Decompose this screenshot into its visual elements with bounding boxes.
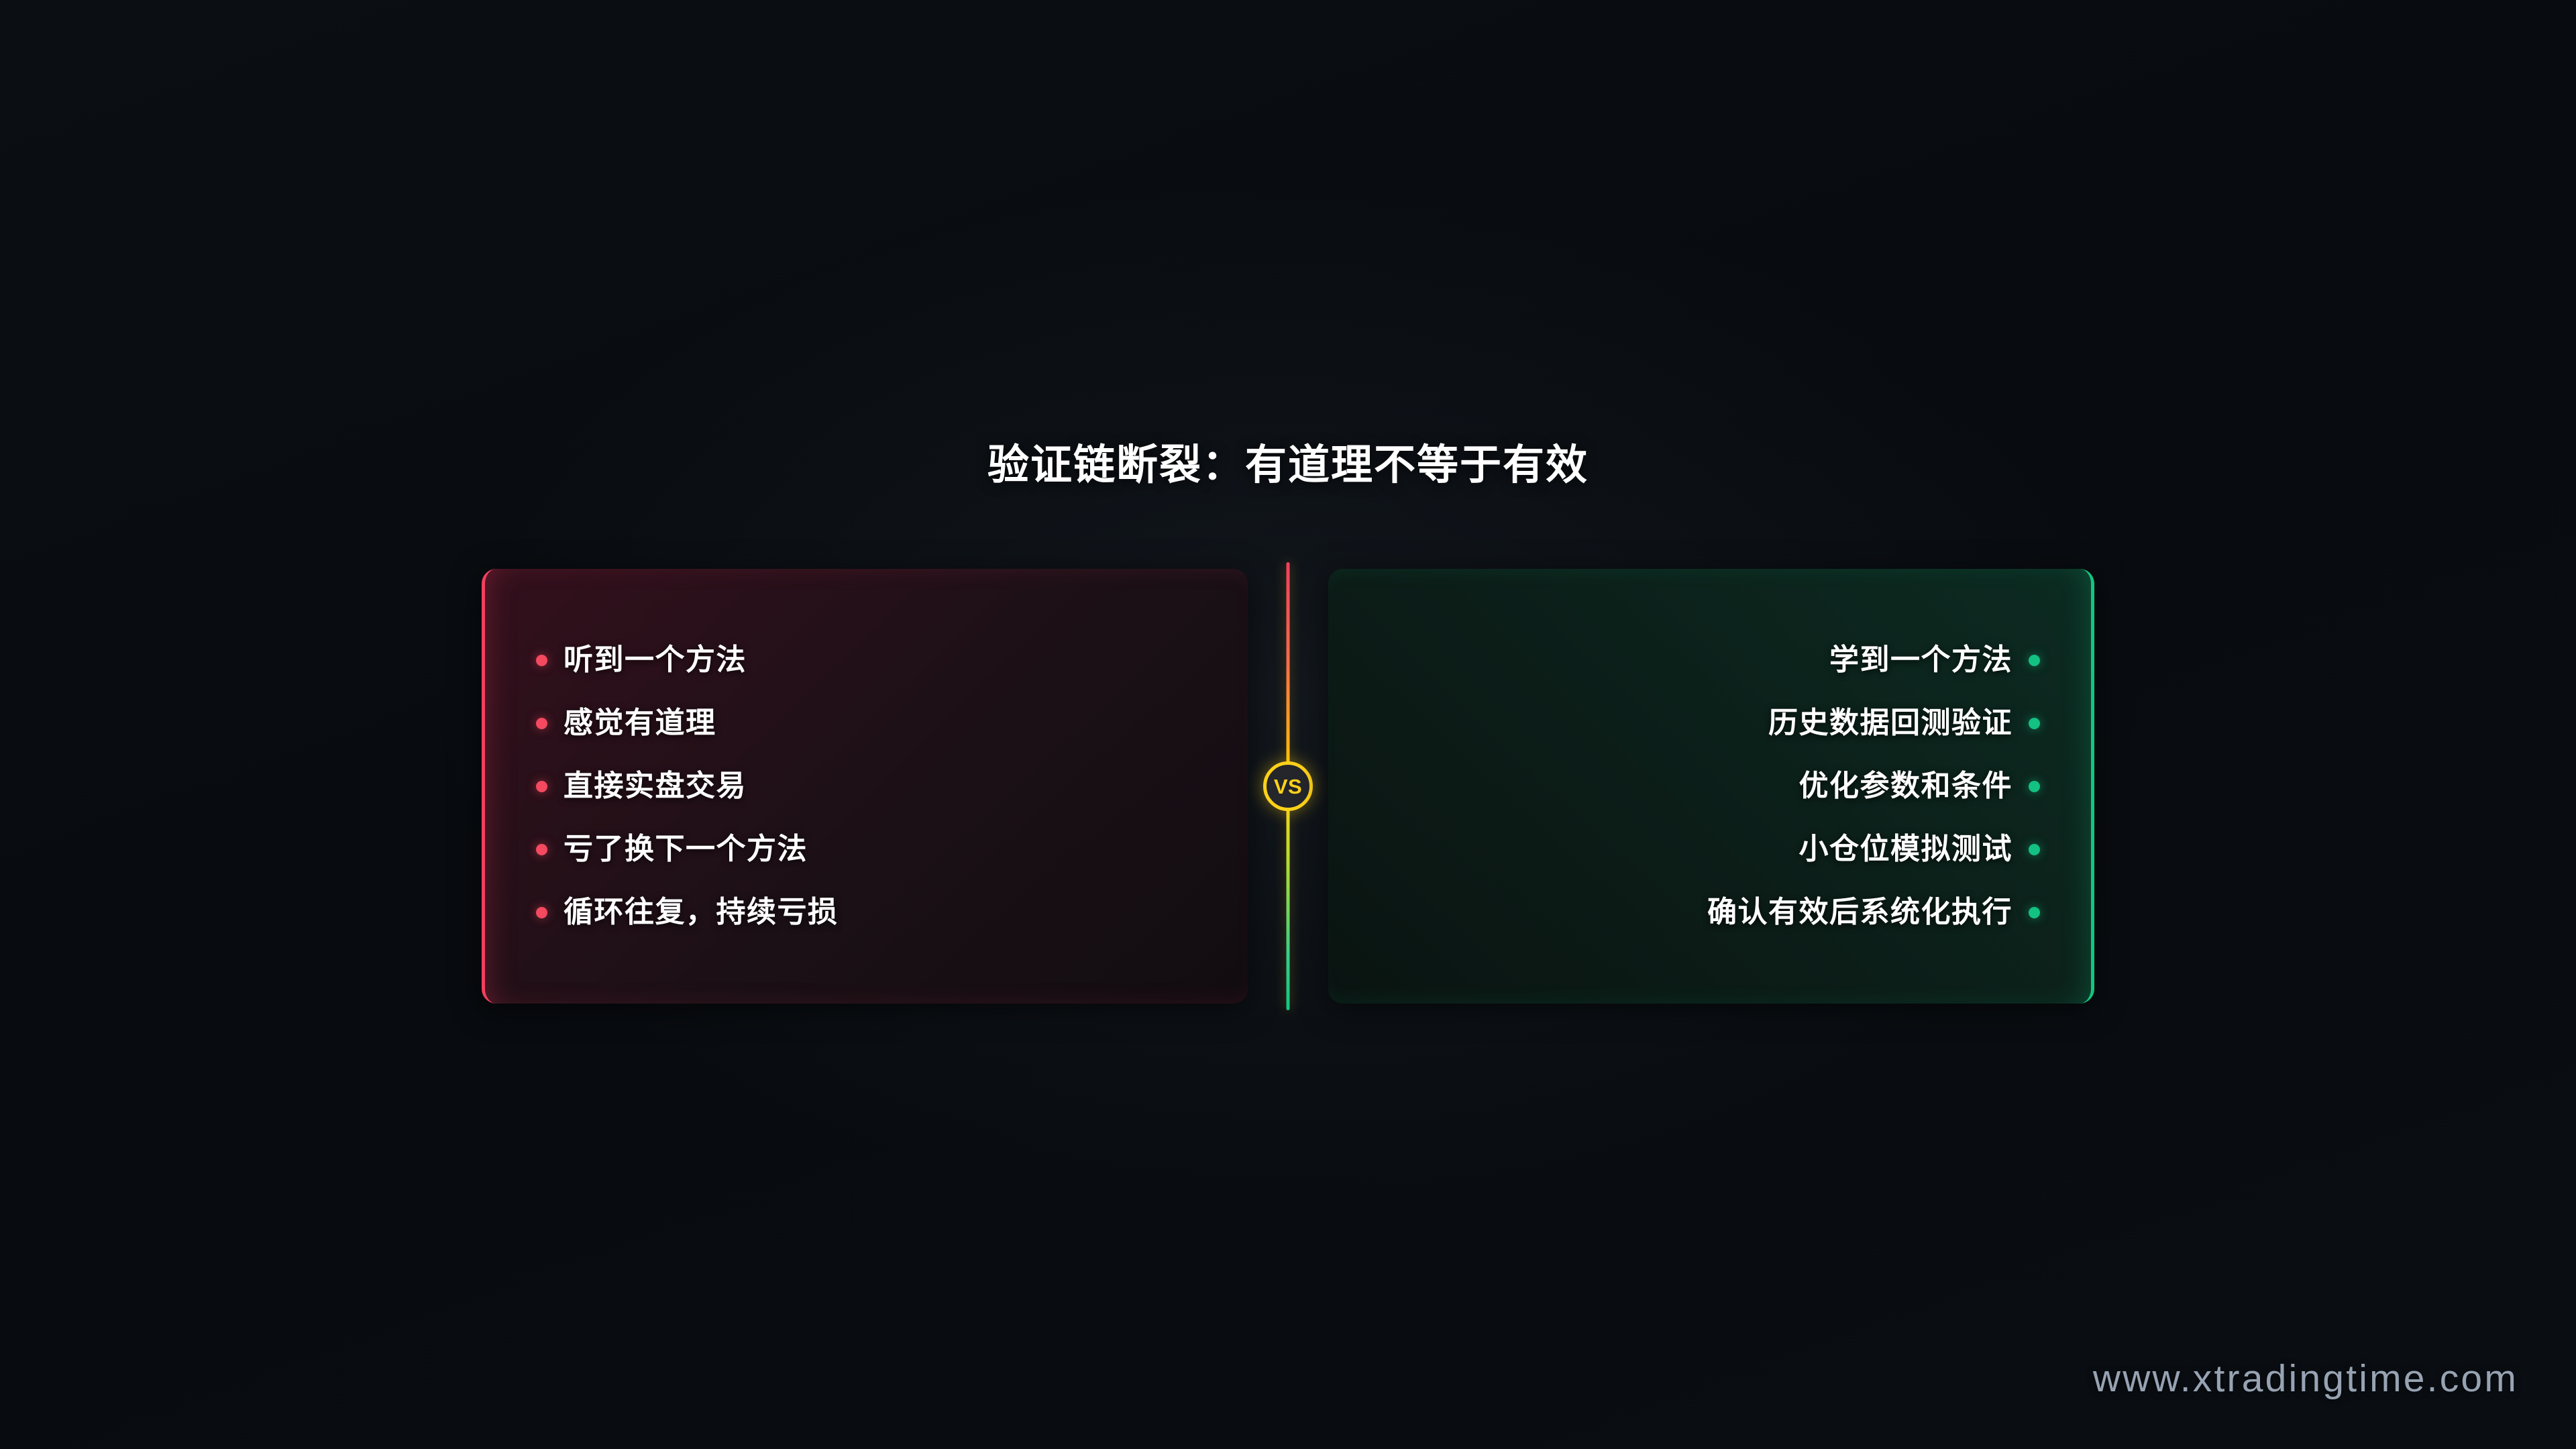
bullet-dot-icon	[2029, 781, 2040, 792]
list-item: 直接实盘交易	[485, 765, 1248, 808]
bullet-dot-icon	[536, 781, 547, 792]
site-url-watermark: www.xtradingtime.com	[2093, 1360, 2518, 1398]
list-item-label: 学到一个方法	[1829, 645, 2012, 675]
bullet-dot-icon	[536, 844, 547, 855]
positive-path-card: 学到一个方法 历史数据回测验证 优化参数和条件 小仓位模拟测试 确认有效后系统化	[1328, 569, 2094, 1004]
slide-canvas: 验证链断裂：有道理不等于有效 听到一个方法 感觉有道理 直接实盘交易	[0, 0, 2576, 1449]
list-item-label: 直接实盘交易	[563, 771, 747, 801]
list-item: 历史数据回测验证	[1328, 702, 2091, 745]
page-title: 验证链断裂：有道理不等于有效	[0, 443, 2576, 488]
vs-divider: VS	[1280, 562, 1296, 1010]
bullet-dot-icon	[2029, 718, 2040, 729]
bullet-dot-icon	[536, 655, 547, 666]
list-item-label: 循环往复，持续亏损	[563, 898, 839, 927]
comparison-panel: 听到一个方法 感觉有道理 直接实盘交易 亏了换下一个方法 循环往复，持续亏损	[482, 569, 2094, 1004]
list-item-label: 历史数据回测验证	[1768, 708, 2012, 738]
bullet-dot-icon	[536, 718, 547, 729]
bullet-dot-icon	[2029, 655, 2040, 666]
list-item-label: 优化参数和条件	[1799, 771, 2013, 801]
vs-badge-label: VS	[1274, 776, 1302, 797]
negative-path-card: 听到一个方法 感觉有道理 直接实盘交易 亏了换下一个方法 循环往复，持续亏损	[482, 569, 1248, 1004]
list-item-label: 小仓位模拟测试	[1799, 835, 2013, 864]
list-item-label: 感觉有道理	[563, 708, 716, 738]
list-item: 听到一个方法	[485, 639, 1248, 682]
list-item: 亏了换下一个方法	[485, 828, 1248, 871]
list-item-label: 亏了换下一个方法	[563, 835, 808, 864]
list-item: 循环往复，持续亏损	[485, 891, 1248, 934]
bullet-dot-icon	[536, 907, 547, 918]
list-item: 优化参数和条件	[1328, 765, 2091, 808]
negative-path-list: 听到一个方法 感觉有道理 直接实盘交易 亏了换下一个方法 循环往复，持续亏损	[485, 639, 1248, 934]
list-item: 学到一个方法	[1328, 639, 2091, 682]
bullet-dot-icon	[2029, 844, 2040, 855]
list-item: 小仓位模拟测试	[1328, 828, 2091, 871]
list-item: 感觉有道理	[485, 702, 1248, 745]
bullet-dot-icon	[2029, 907, 2040, 918]
list-item: 确认有效后系统化执行	[1328, 891, 2091, 934]
vs-badge: VS	[1263, 761, 1313, 811]
positive-path-list: 学到一个方法 历史数据回测验证 优化参数和条件 小仓位模拟测试 确认有效后系统化	[1328, 639, 2091, 934]
list-item-label: 听到一个方法	[563, 645, 747, 675]
list-item-label: 确认有效后系统化执行	[1707, 898, 2012, 927]
